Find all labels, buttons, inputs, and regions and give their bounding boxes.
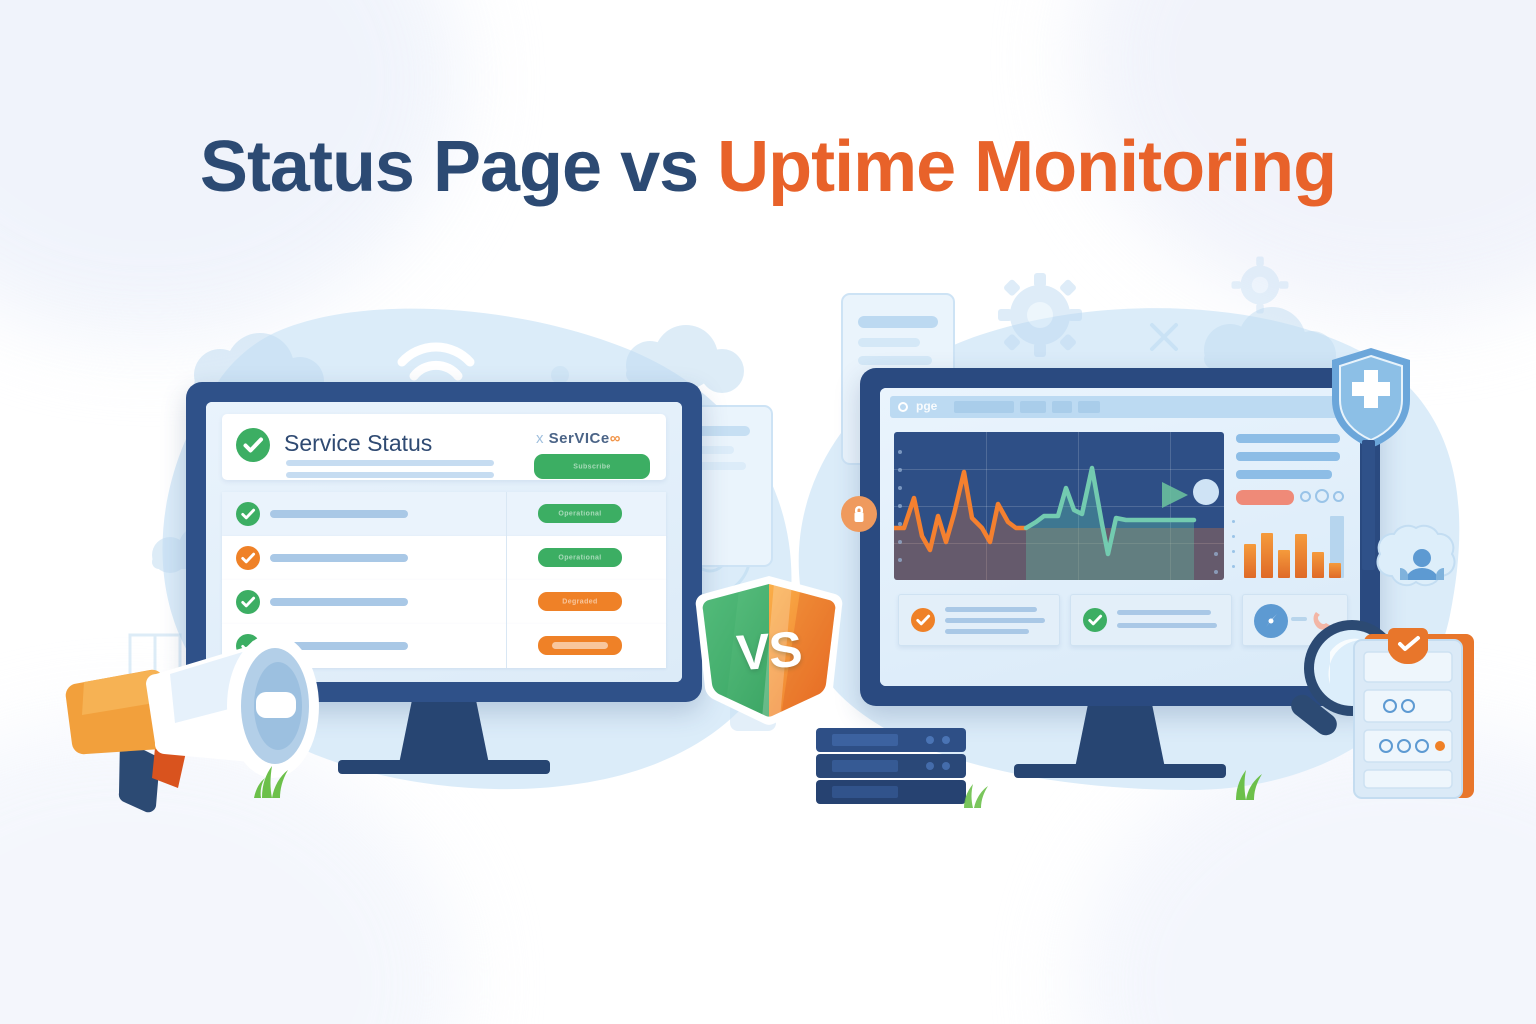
user-icon [1372,522,1476,614]
sidebar-circle-icon [1333,491,1344,502]
row-check-circle-icon [236,590,260,614]
sidebar-mini-bar [1329,563,1341,578]
subscribe-button[interactable]: Subscribe [534,454,650,479]
row-status-badge: Degraded [538,592,622,611]
subscribe-button-label: Subscribe [534,463,650,470]
title-left-part: Status Page vs [200,127,717,207]
logo-prefix: x [536,430,544,447]
browser-url-text: pge [916,399,937,413]
card-skeleton-line [945,629,1029,634]
header-check-circle-icon [236,428,270,462]
sidebar-mini-bar [1278,550,1290,578]
row-status-badge-label: Operational [538,510,622,517]
browser-circle-icon [898,402,908,412]
illustration-canvas: Status Page vs Uptime Monitoring [0,0,1536,1024]
card-skeleton-line [1117,610,1211,615]
metric-card[interactable] [898,594,1060,646]
header-skeleton-line-2 [286,472,494,478]
left-monitor-base [338,760,550,774]
vs-shield-badge: VS [683,572,855,730]
row-status-badge: Operational [538,504,622,523]
sidebar-skeleton-line [1236,470,1332,479]
grass-decor-servers [958,780,1000,808]
sidebar-circle-icon [1300,491,1311,502]
lock-icon [840,495,878,533]
browser-url-bar[interactable]: pge [890,396,1350,418]
vs-label: VS [681,616,857,686]
service-logo: x SerVICe∞ [536,430,621,447]
page-title: Status Page vs Uptime Monitoring [0,126,1536,208]
row-skeleton-line [270,598,408,606]
server-checklist-panel [1348,628,1480,804]
service-status-title: Service Status [284,430,432,457]
sidebar-mini-bar [1244,544,1256,578]
row-status-badge [538,636,622,655]
row-status-badge-label: Operational [538,554,622,561]
card-check-circle-icon [911,608,935,632]
row-status-badge-label: Degraded [538,598,622,605]
metric-card[interactable] [1070,594,1232,646]
sidebar-mini-bar [1261,533,1273,578]
right-monitor-base [1014,764,1226,778]
sidebar-mini-bar [1295,534,1307,578]
sidebar-highlight-bar [1236,490,1294,505]
card-skeleton-line [1117,623,1217,628]
sidebar-circle-icon [1315,489,1329,503]
sidebar-mini-bar [1312,552,1324,578]
sidebar-skeleton-line [1236,434,1340,443]
card-skeleton-line [945,607,1037,612]
card-skeleton-line [945,618,1045,623]
header-skeleton-line-1 [286,460,494,466]
grass-decor-left [252,764,302,798]
logo-text: SerVICe [549,430,610,447]
card-check-circle-icon [1083,608,1107,632]
right-monitor-neck [1075,706,1165,768]
row-status-badge: Operational [538,548,622,567]
title-right-part: Uptime Monitoring [717,127,1336,207]
row-skeleton-line [270,510,408,518]
left-monitor-neck [399,702,489,764]
sidebar-skeleton-line [1236,452,1340,461]
response-time-chart [894,432,1224,580]
row-skeleton-line [270,554,408,562]
row-check-circle-icon [236,546,260,570]
row-check-circle-icon [236,502,260,526]
grass-decor-right [1228,768,1276,800]
